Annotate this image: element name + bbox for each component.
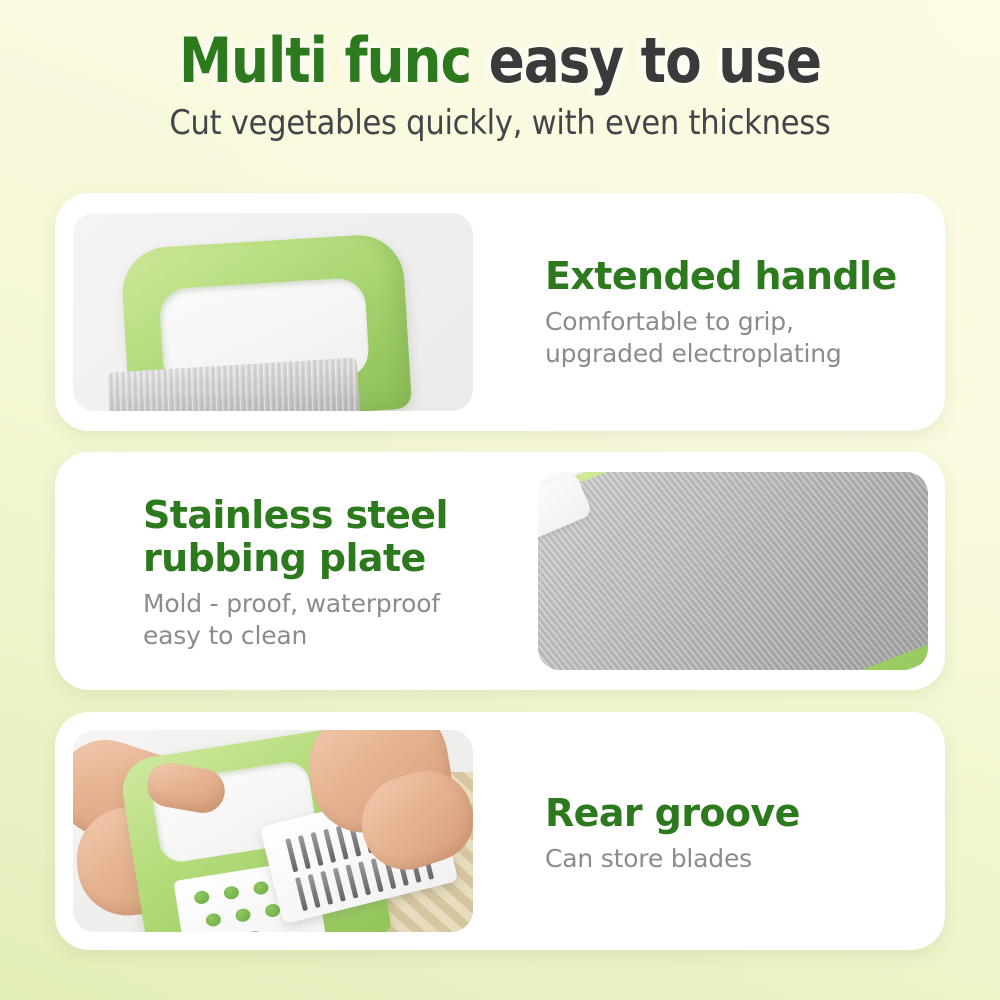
feature-description-line-1: Comfortable to grip, — [545, 306, 925, 338]
page-headline: Multi func easy to use — [70, 28, 930, 93]
headline-green-part: Multi func — [179, 24, 471, 97]
dimple-hole — [223, 885, 240, 900]
blade-slot — [358, 861, 371, 895]
headline-dark-part: easy to use — [471, 24, 821, 97]
product-photo-rear-groove — [73, 730, 473, 932]
feature-text-extended-handle: Extended handle Comfortable to grip, upg… — [545, 255, 925, 370]
feature-description-line-1: Mold - proof, waterproof — [143, 588, 543, 620]
feature-title-line-2: rubbing plate — [143, 537, 543, 580]
feature-text-rear-groove: Rear groove Can store blades — [545, 792, 925, 875]
feature-card-list: Extended handle Comfortable to grip, upg… — [0, 0, 1000, 1000]
feature-text-stainless-steel: Stainless steel rubbing plate Mold - pro… — [143, 494, 543, 652]
feature-description: Comfortable to grip, upgraded electropla… — [545, 306, 925, 370]
feature-description-line-2: upgraded electroplating — [545, 338, 925, 370]
feature-description-line-2: easy to clean — [143, 620, 543, 652]
feature-title-line-1: Stainless steel — [143, 494, 543, 537]
blade-slot — [311, 832, 324, 866]
feature-description: Can store blades — [545, 843, 925, 875]
feature-title: Stainless steel rubbing plate — [143, 494, 543, 580]
blade-slot — [308, 874, 321, 908]
page-subhead: Cut vegetables quickly, with even thickn… — [50, 103, 950, 143]
brushed-steel-surface — [538, 472, 928, 670]
blade-slot — [345, 864, 358, 898]
dimple-hole — [253, 880, 270, 895]
feature-description-line-1: Can store blades — [545, 843, 925, 875]
blade-slot — [295, 877, 308, 911]
feature-card-rear-groove[interactable]: Rear groove Can store blades — [55, 712, 945, 950]
dimple-hole — [193, 890, 210, 905]
feature-description: Mold - proof, waterproof easy to clean — [143, 588, 543, 652]
blade-slot — [333, 868, 346, 902]
blade-slot — [320, 871, 333, 905]
dimple-hole — [246, 930, 263, 932]
blade-slot — [285, 838, 298, 872]
blade-slot — [298, 835, 311, 869]
product-photo-extended-handle — [73, 213, 473, 411]
feature-card-extended-handle[interactable]: Extended handle Comfortable to grip, upg… — [55, 193, 945, 431]
dimple-hole — [235, 908, 252, 923]
blade-slot — [323, 829, 336, 863]
dimple-hole — [205, 912, 222, 927]
product-photo-stainless-plate — [538, 472, 928, 670]
feature-card-stainless-steel-rubbing-plate[interactable]: Stainless steel rubbing plate Mold - pro… — [55, 452, 945, 690]
feature-title: Extended handle — [545, 255, 925, 298]
header: Multi func easy to use Cut vegetables qu… — [0, 0, 1000, 143]
blade-slot — [371, 858, 384, 892]
green-frame-shape — [538, 472, 928, 670]
blade-slot — [336, 826, 349, 860]
feature-title: Rear groove — [545, 792, 925, 835]
